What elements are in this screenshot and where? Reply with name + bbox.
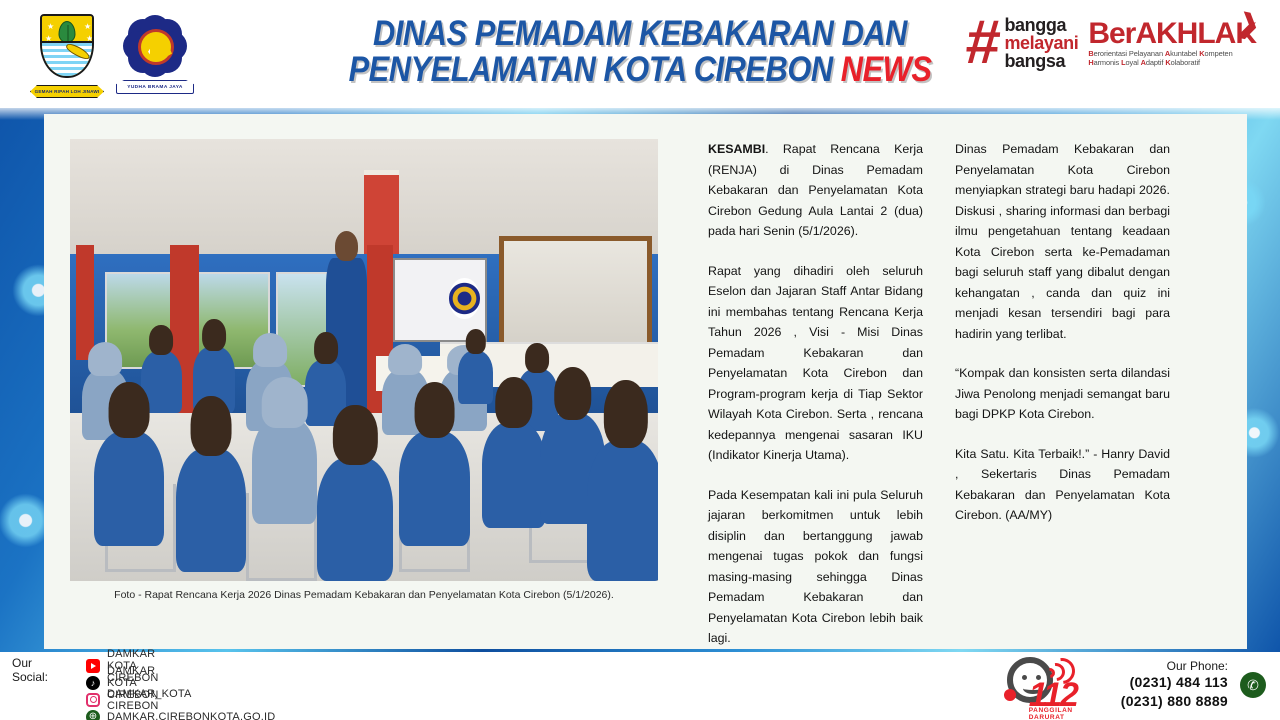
phone-text-block: Our Phone: (0231) 484 113 (0231) 880 888… — [1121, 659, 1228, 711]
social-item-instagram[interactable]: DAMKAR_KOTA CIREBON — [86, 691, 191, 708]
berakhlak-tagline-2: Harmonis Loyal Adaptif Kolaboratif — [1088, 58, 1256, 67]
mic-dot-icon — [1004, 689, 1016, 701]
meeting-room-photo — [70, 139, 658, 581]
paragraph: “Kompak dan konsisten serta dilandasi Ji… — [955, 363, 1170, 425]
paragraph-text: . Rapat Rencana Kerja (RENJA) di Dinas P… — [708, 142, 923, 238]
star-icon: ★ — [84, 24, 90, 30]
social-label: Our Social: — [12, 656, 48, 684]
emergency-112-logo: 112 PANGGILAN DARURAT — [1005, 656, 1109, 714]
social-label-website: DAMKAR.CIREBONKOTA.GO.ID — [107, 711, 275, 720]
content-panel: Foto - Rapat Rencana Kerja 2026 Dinas Pe… — [44, 114, 1247, 649]
photo-column-cap — [364, 170, 399, 254]
photo-column-3 — [76, 245, 94, 360]
bangga-wordmark: bangga melayani bangsa — [1004, 16, 1078, 70]
instagram-icon — [86, 693, 100, 707]
attendee — [482, 422, 547, 528]
hashtag-icon: # — [963, 19, 1001, 67]
attendee — [94, 431, 165, 546]
berakhlak-wordmark: BerAKHLAK — [1088, 19, 1256, 49]
berakhlak-logo: BerAKHLAK ❯ Berorientasi Pelayanan Akunt… — [1088, 19, 1256, 68]
attendee — [317, 457, 393, 581]
bangga-line-2: melayani — [1004, 34, 1078, 52]
berakhlak-tagline-1: Berorientasi Pelayanan Akuntabel Kompete… — [1088, 49, 1256, 58]
attendee — [176, 448, 247, 572]
phone-label: Our Phone: — [1121, 659, 1228, 673]
article-column-1: KESAMBI. Rapat Rencana Kerja (RENJA) di … — [708, 139, 923, 649]
attendee — [252, 417, 317, 523]
leaf-icon — [59, 21, 76, 43]
photo-caption: Foto - Rapat Rencana Kerja 2026 Dinas Pe… — [70, 589, 658, 601]
news-poster: ★ ★ ★ ★ GEMAH RIPAH LOH JINAWI — [0, 0, 1280, 720]
phone-number-2: (0231) 880 8889 — [1121, 692, 1228, 711]
flame-core-icon — [138, 29, 174, 65]
poster-header: ★ ★ ★ ★ GEMAH RIPAH LOH JINAWI — [0, 0, 1280, 108]
contact-section: 112 PANGGILAN DARURAT Our Phone: (0231) … — [1005, 656, 1266, 714]
paragraph: Rapat yang dihadiri oleh seluruh Eselon … — [708, 261, 923, 466]
emergency-caption: PANGGILAN DARURAT — [1029, 707, 1109, 720]
swoosh-icon: ❯ — [1235, 7, 1263, 42]
website-icon: ⊕ — [86, 710, 100, 720]
title-line-2-text: PENYELAMATAN KOTA CIREBON — [349, 50, 833, 89]
attendee — [399, 431, 470, 546]
social-item-website[interactable]: ⊕ DAMKAR.CIREBONKOTA.GO.ID — [86, 708, 275, 720]
article-column-2: Dinas Pemadam Kebakaran dan Penyelamatan… — [955, 139, 1170, 526]
cirebon-city-emblem-icon: ★ ★ ★ ★ GEMAH RIPAH LOH JINAWI — [28, 12, 106, 100]
phone-number-1: (0231) 484 113 — [1121, 673, 1228, 692]
fire-department-emblem-icon: YUDHA BRAMA JAYA — [112, 12, 198, 100]
fire-motto-banner: YUDHA BRAMA JAYA — [116, 80, 194, 94]
star-icon: ★ — [47, 24, 53, 30]
header-right-logos: # bangga melayani bangsa BerAKHLAK ❯ Ber… — [965, 16, 1256, 70]
petal-group — [123, 15, 187, 77]
phone-icon: ✆ — [1240, 672, 1266, 698]
bangga-melayani-bangsa-logo: # bangga melayani bangsa — [965, 16, 1078, 70]
paragraph: Dinas Pemadam Kebakaran dan Penyelamatan… — [955, 139, 1170, 344]
article-photo — [70, 139, 658, 581]
bangga-line-1: bangga — [1004, 16, 1078, 34]
attendee — [587, 440, 658, 581]
poster-footer: Our Social: DAMKAR KOTA CIREBON ♪ DAMKAR… — [0, 652, 1280, 720]
attendee — [458, 351, 493, 404]
cirebon-motto-banner: GEMAH RIPAH LOH JINAWI — [30, 85, 104, 98]
youtube-icon — [86, 659, 100, 673]
header-logos: ★ ★ ★ ★ GEMAH RIPAH LOH JINAWI — [28, 12, 198, 100]
eye — [1022, 675, 1027, 680]
paragraph: KESAMBI. Rapat Rencana Kerja (RENJA) di … — [708, 139, 923, 242]
tiktok-icon: ♪ — [86, 676, 100, 690]
shield-shape: ★ ★ ★ ★ — [40, 14, 94, 78]
article-lede: KESAMBI — [708, 142, 765, 156]
bangga-line-3: bangsa — [1004, 52, 1078, 70]
paragraph: Pada Kesempatan kali ini pula Seluruh ja… — [708, 485, 923, 649]
title-news-word: NEWS — [841, 50, 932, 89]
paragraph: Kita Satu. Kita Terbaik!.” - Hanry David… — [955, 444, 1170, 526]
